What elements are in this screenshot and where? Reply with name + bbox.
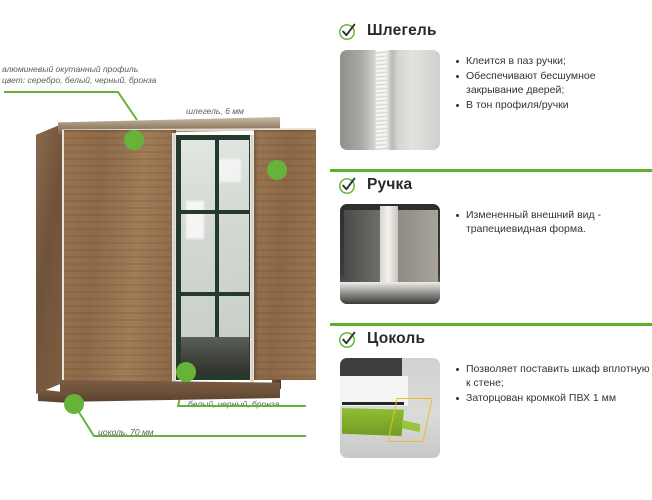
handle-closeup-photo xyxy=(340,204,440,304)
feature-section-shlegel: Шлегель Клеится в паз ручки; Обеспечиваю… xyxy=(330,18,652,168)
wardrobe-plinth-front xyxy=(60,380,280,402)
marker-dot-shlegel xyxy=(267,160,287,180)
feature-body-handle: Измененный внешний вид - трапециевидная … xyxy=(330,204,652,304)
check-circle-icon xyxy=(338,175,358,195)
glass-mullion-horizontal xyxy=(181,210,249,214)
bullet-item: Измененный внешний вид - трапециевидная … xyxy=(454,208,652,236)
feature-section-handle: Ручка Измененный внешний вид - трапециев… xyxy=(330,172,652,320)
photo-bottom-rail xyxy=(340,282,440,304)
marker-dot-handles xyxy=(176,362,196,382)
bullet-item: Клеится в паз ручки; xyxy=(454,54,652,68)
shlegel-brush-pile xyxy=(376,50,386,150)
bullet-item: Обеспечивают бесшумное закрывание дверей… xyxy=(454,69,652,97)
wardrobe-handle-left xyxy=(172,133,176,383)
bullet-item: В тон профиля/ручки xyxy=(454,98,652,112)
marker-dot-plinth xyxy=(64,394,84,414)
photo-handle-profile xyxy=(380,206,398,290)
feature-title-plinth: Цоколь xyxy=(367,330,425,348)
photo-panel-light xyxy=(398,210,438,284)
feature-header-shlegel: Шлегель xyxy=(330,18,652,44)
shlegel-closeup-photo xyxy=(340,50,440,150)
photo-highlight-outline xyxy=(387,398,432,442)
feature-bullets-shlegel: Клеится в паз ручки; Обеспечивают бесшум… xyxy=(454,54,652,150)
feature-section-plinth: Цоколь Позволяет поставить шкаф вплотную… xyxy=(330,326,652,486)
check-circle-icon xyxy=(338,21,358,41)
feature-bullets-plinth: Позволяет поставить шкаф вплотную к стен… xyxy=(454,362,652,458)
bullet-item: Заторцован кромкой ПВХ 1 мм xyxy=(454,391,652,405)
callout-shlegel-line1: шлегель, 6 мм xyxy=(186,106,244,117)
wardrobe-door-left xyxy=(62,130,176,385)
wardrobe-handle-right xyxy=(250,135,254,383)
feature-body-shlegel: Клеится в паз ручки; Обеспечивают бесшум… xyxy=(330,50,652,150)
feature-body-plinth: Позволяет поставить шкаф вплотную к стен… xyxy=(330,358,652,458)
callout-profile-line1: алюминевый окутанный профиль xyxy=(2,64,156,75)
feature-header-handle: Ручка xyxy=(330,172,652,198)
bullet-item: Позволяет поставить шкаф вплотную к стен… xyxy=(454,362,652,390)
glass-mullion-horizontal xyxy=(181,292,249,296)
callout-profile-line2: цвет: серебро, белый, черный, бронза xyxy=(2,75,156,86)
feature-header-plinth: Цоколь xyxy=(330,326,652,352)
feature-title-handle: Ручка xyxy=(367,176,412,194)
marker-dot-profile xyxy=(124,130,144,150)
callout-profile: алюминевый окутанный профиль цвет: сереб… xyxy=(2,64,156,86)
callout-shlegel: шлегель, 6 мм xyxy=(186,106,244,117)
wardrobe-side-panel xyxy=(36,124,62,394)
plinth-closeup-photo xyxy=(340,358,440,458)
photo-panel-dark xyxy=(344,210,380,284)
glass-reflection xyxy=(218,159,241,183)
glass-reflection xyxy=(186,201,204,239)
feature-bullets-handle: Измененный внешний вид - трапециевидная … xyxy=(454,208,652,304)
wardrobe-door-center-mirror xyxy=(176,135,254,380)
product-diagram-panel: алюминевый окутанный профиль цвет: сереб… xyxy=(0,0,330,500)
feature-title-shlegel: Шлегель xyxy=(367,22,437,40)
check-circle-icon xyxy=(338,329,358,349)
features-panel: Шлегель Клеится в паз ручки; Обеспечиваю… xyxy=(330,0,652,500)
wardrobe-illustration xyxy=(36,117,280,402)
